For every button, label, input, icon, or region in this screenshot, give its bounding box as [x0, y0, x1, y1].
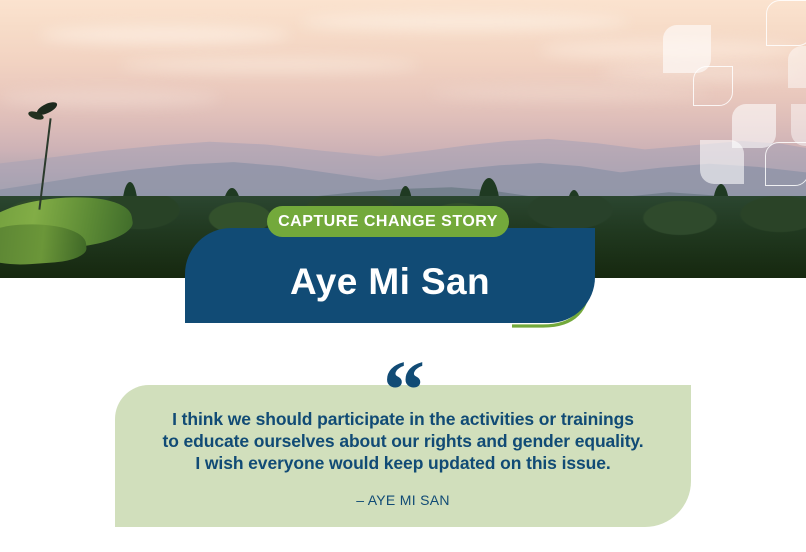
leaf-shape-icon: [766, 0, 806, 46]
cloud-streak: [0, 90, 220, 106]
quote-attribution: – AYE MI SAN: [125, 492, 681, 508]
leaf-shape-icon: [732, 104, 776, 148]
quote-line: I wish everyone would keep updated on th…: [125, 452, 681, 474]
capture-change-story-poster: Aye Mi San CAPTURE CHANGE STORY “ I thin…: [0, 0, 806, 552]
cloud-streak: [40, 26, 290, 44]
quote-line: to educate ourselves about our rights an…: [125, 430, 681, 452]
leaf-shape-icon: [791, 104, 806, 146]
cloud-streak: [120, 58, 420, 72]
leaf-shape-icon: [765, 142, 806, 186]
leaf-shape-icon: [693, 66, 733, 106]
leaf-shape-icon: [788, 46, 806, 88]
leaf-shape-icon: [700, 140, 744, 184]
quote-text: I think we should participate in the act…: [125, 408, 681, 474]
decorative-leaf-pattern: [640, 0, 806, 192]
cloud-streak: [300, 14, 630, 30]
quote-mark-icon: “: [383, 360, 423, 400]
quote-line: I think we should participate in the act…: [125, 408, 681, 430]
name-banner: Aye Mi San: [185, 228, 595, 323]
story-badge: CAPTURE CHANGE STORY: [267, 206, 509, 237]
story-badge-label: CAPTURE CHANGE STORY: [278, 213, 498, 231]
person-name: Aye Mi San: [185, 228, 595, 323]
